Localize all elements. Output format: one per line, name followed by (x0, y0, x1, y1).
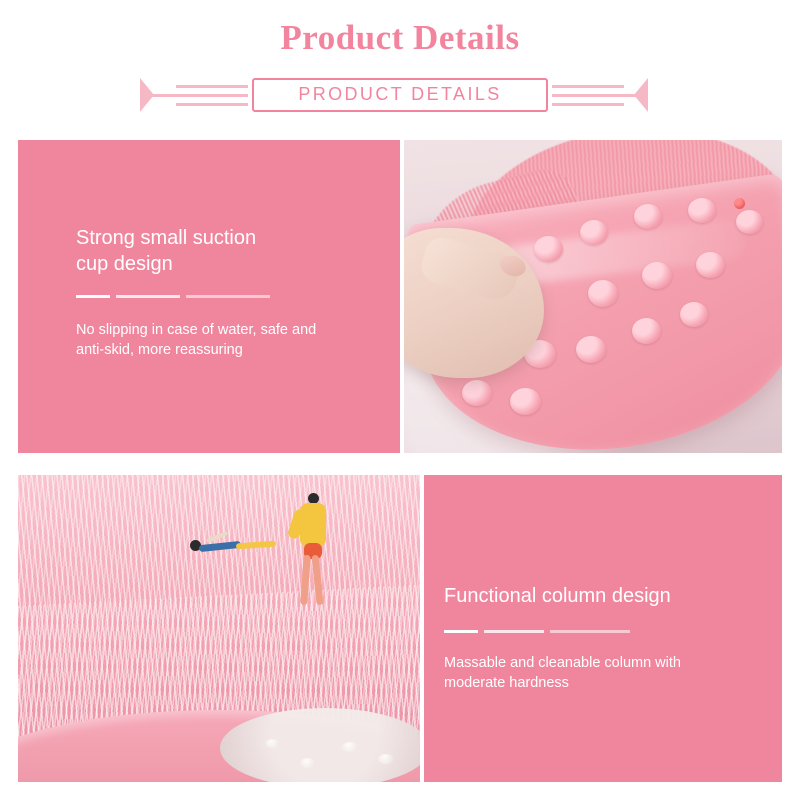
panel-1-photo-suction-cups (404, 140, 782, 453)
photo-1-suction-cup (580, 220, 608, 245)
ribbon-tail-left-1 (176, 85, 248, 88)
panel-functional-column-text: Functional column design Massable and cl… (424, 475, 782, 782)
panel-1-body-line-1: No slipping in case of water, safe and (76, 322, 316, 338)
photo-2-base-bump (300, 758, 316, 768)
photo-1-suction-cup (576, 336, 606, 363)
panel-1-divider-seg-2 (116, 295, 180, 298)
panel-1-divider-seg-3 (186, 295, 270, 298)
photo-2-figurine-swimmer (190, 533, 280, 563)
panel-1-title-line-2: cup design (76, 253, 173, 275)
figurine-leg (311, 555, 323, 605)
panel-2-body: Massable and cleanable column with moder… (444, 653, 774, 693)
figurine-leg (300, 555, 310, 605)
panel-2-divider-seg-2 (484, 630, 544, 633)
figurine-torso (199, 541, 242, 552)
ribbon-tail-right-1 (552, 85, 624, 88)
photo-1-suction-cup (642, 262, 672, 289)
product-details-page: Product Details PRODUCT DETAILS Strong s… (0, 0, 800, 800)
photo-1-suction-cup (736, 210, 763, 234)
panel-1-body: No slipping in case of water, safe and a… (76, 320, 396, 360)
figurine-legs (236, 541, 276, 550)
photo-1-suction-cup (688, 198, 716, 223)
photo-1-suction-cup (632, 318, 661, 344)
ribbon-tail-left-2 (152, 94, 248, 97)
panel-1-title-line-1: Strong small suction (76, 227, 256, 249)
panel-2-divider-seg-3 (550, 630, 630, 633)
photo-2-mat-base (220, 708, 420, 782)
page-title: Product Details (0, 18, 800, 58)
photo-1-suction-cup (634, 204, 662, 229)
panel-1-title: Strong small suction cup design (76, 225, 376, 277)
photo-1-suction-cup (534, 236, 563, 262)
panel-2-title: Functional column design (444, 583, 774, 609)
panel-2-title-line-1: Functional column design (444, 585, 671, 607)
photo-2-figurine-standing (290, 493, 336, 613)
ribbon-notch-left-icon (140, 78, 154, 112)
panel-2-divider (444, 630, 644, 633)
figurine-shirt (300, 503, 326, 547)
page-header: Product Details PRODUCT DETAILS (0, 0, 800, 132)
panel-2-divider-seg-1 (444, 630, 478, 633)
photo-1-suction-cup (696, 252, 725, 278)
ribbon-tail-right-3 (552, 103, 624, 106)
panel-1-divider-seg-1 (76, 295, 110, 298)
ribbon-tail-left-3 (176, 103, 248, 106)
photo-1-red-marker (734, 198, 745, 209)
photo-2-base-bump (265, 739, 280, 748)
ribbon-label: PRODUCT DETAILS (252, 78, 548, 112)
panel-1-divider (76, 295, 276, 298)
row-gutter (0, 453, 800, 475)
ribbon-notch-right-icon (634, 78, 648, 112)
photo-2-base-bump (378, 754, 394, 764)
panel-2-body-line-2: moderate hardness (444, 675, 569, 691)
photo-1-suction-cup (680, 302, 708, 327)
panel-2-photo-columns (18, 475, 420, 782)
photo-1-suction-cup (588, 280, 618, 307)
photo-1-suction-cup (462, 380, 492, 406)
photo-1-suction-cup (510, 388, 541, 415)
ribbon-banner: PRODUCT DETAILS (0, 78, 800, 118)
panel-suction-cup-text: Strong small suction cup design No slipp… (18, 140, 400, 453)
photo-2-base-bump (342, 742, 358, 752)
panel-2-body-line-1: Massable and cleanable column with (444, 655, 681, 671)
figurine-arm (206, 531, 228, 543)
panel-1-body-line-2: anti-skid, more reassuring (76, 342, 243, 358)
